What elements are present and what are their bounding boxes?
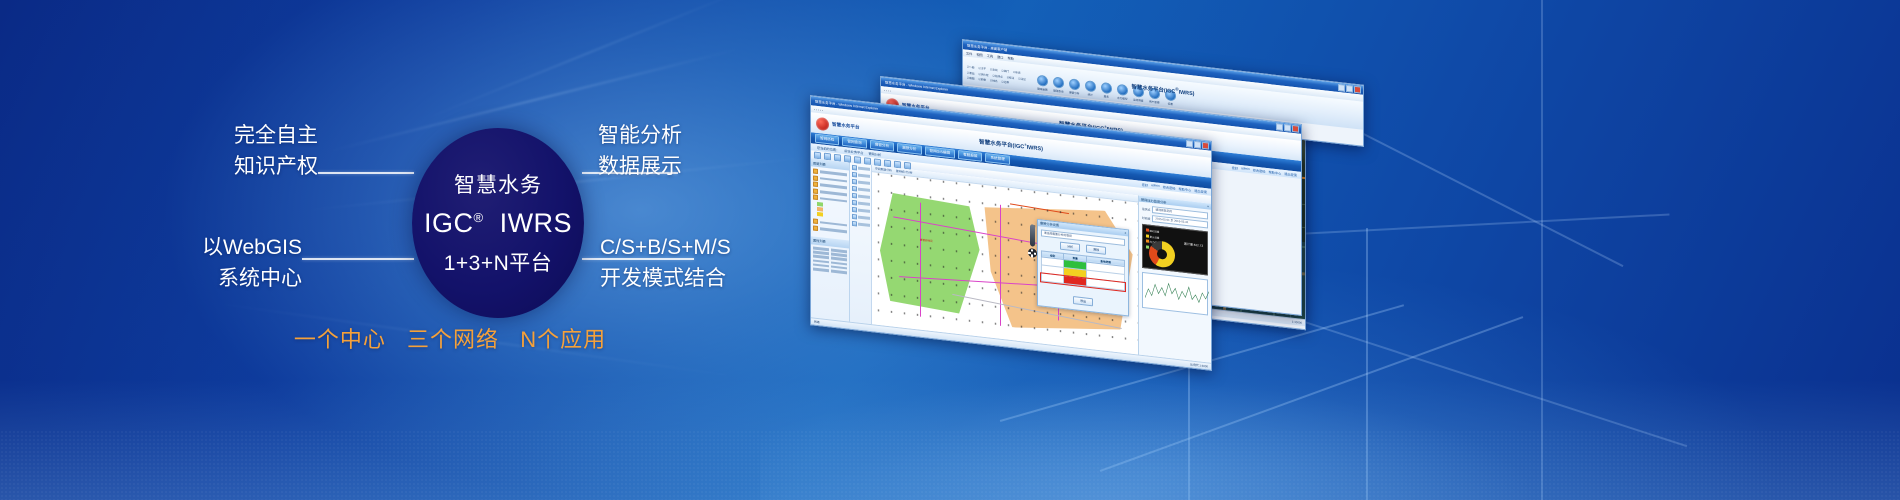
ribbon-button-5[interactable]: 水力模型 (1117, 84, 1128, 101)
mini-line-chart-svg (1145, 275, 1209, 312)
concept-diagram: 智慧水务 IGC® IWRS 1+3+N平台 完全自主 知识产权 智能分析 数据… (0, 0, 900, 500)
hydraulic-model-icon (1117, 84, 1128, 96)
maximize-icon[interactable] (1346, 85, 1353, 93)
menu-file[interactable]: 文件 (966, 51, 972, 57)
donut-chart (1149, 240, 1175, 269)
tagline-part-2: 三个网络 (407, 327, 499, 352)
mini-line-chart-box[interactable] (1142, 272, 1208, 316)
connector-top-left (318, 172, 414, 174)
ribbon-checkbox-group[interactable]: ☑一般☑主干 ☑支线☑阀门☑水表 ☑泵站☑消火栓 ☑监测点☑标注☑注记 ☑底图☑… (967, 65, 1026, 87)
layer-icon (813, 195, 818, 201)
burst-analysis-icon (1069, 78, 1080, 90)
logout-link[interactable]: 退出登录 (1284, 171, 1297, 177)
breadcrumb-1[interactable]: 综合业务平台 (844, 148, 863, 155)
hub-line-3: 1+3+N平台 (444, 247, 553, 277)
pan-icon (852, 172, 857, 178)
logout-link[interactable]: 退出登录 (1194, 188, 1207, 194)
locate-icon (852, 221, 857, 227)
monitoring-panel-body: 监测点 请选择监测点 时间段 2015-05-01 至 2015-05-31 瞬… (1139, 202, 1211, 319)
satellite-scale: 1:10000 (1292, 320, 1302, 325)
measure-icon (852, 193, 857, 199)
tool-locate[interactable] (852, 221, 870, 228)
hub-line-2: IGC® IWRS (424, 208, 572, 239)
map-tools-panel[interactable] (850, 163, 872, 325)
maximize-icon[interactable] (1194, 141, 1201, 149)
tool-zoom-out[interactable] (852, 186, 870, 193)
ribbon-button-1[interactable]: 管网查询 (1053, 76, 1064, 93)
legend-swatches (817, 202, 823, 217)
breadcrumb-prefix: 您当前的位置： (817, 145, 839, 153)
change-password-link[interactable]: 修改密码 (1163, 184, 1176, 190)
feature-top-left-line2: 知识产权 (150, 151, 318, 182)
close-icon[interactable] (1202, 142, 1209, 150)
help-center-link[interactable]: 帮助中心 (1269, 169, 1282, 175)
minimize-icon[interactable] (1338, 84, 1345, 92)
new-icon[interactable] (814, 151, 821, 159)
tool-clear[interactable] (852, 214, 870, 221)
close-icon[interactable] (1292, 125, 1299, 133)
central-hub: 智慧水务 IGC® IWRS 1+3+N平台 (412, 128, 584, 318)
tool-measure[interactable] (852, 193, 870, 200)
username: admin (1241, 166, 1250, 172)
layer-icon (813, 225, 818, 231)
clear-icon (852, 214, 857, 220)
analyze-button[interactable]: 分析 (1060, 242, 1080, 252)
report-icon (1101, 82, 1112, 94)
panel-close-icon[interactable]: × (1207, 204, 1209, 208)
burst-analysis-panel[interactable]: 爆管分析设置 × 请选择需要分析的管段 分析 清除 级别 (1037, 219, 1129, 317)
registered-mark-icon: ® (473, 210, 483, 225)
pan-dpad-icon[interactable] (1028, 248, 1037, 258)
feature-bottom-left-line2: 系统中心 (130, 263, 302, 294)
feature-top-left: 完全自主 知识产权 (150, 120, 318, 182)
pipe-query-icon (1053, 76, 1064, 88)
map-navigation-control[interactable] (1028, 224, 1037, 258)
help-center-link[interactable]: 帮助中心 (1179, 186, 1192, 192)
export-button[interactable]: 导出 (1073, 296, 1093, 306)
monitoring-panel[interactable]: 管网压力监测分析 × 监测点 请选择监测点 时间段 2015-05-01 至 2… (1138, 195, 1211, 362)
tagline: 一个中心 三个网络 N个应用 (0, 322, 900, 354)
area-icon (852, 200, 857, 206)
menu-view[interactable]: 视图 (976, 52, 982, 58)
browser-front-brand-name: 智慧水务平台 (832, 122, 860, 131)
greeting: 您好 (1232, 165, 1238, 171)
map-canvas[interactable]: 空间数据分析 管网统计分析 爆管影响区 (872, 165, 1138, 354)
query-icon (852, 207, 857, 213)
zoom-out-icon (852, 186, 857, 192)
feature-bottom-right-line2: 开发模式结合 (600, 263, 830, 294)
tool-zoom-in[interactable] (852, 179, 870, 186)
layer-icon (813, 219, 818, 225)
screenshot-stack: 影像底图 - 管网叠加 ▫▫▫ (790, 0, 1490, 500)
tagline-part-3: N个应用 (520, 327, 606, 352)
tool-select[interactable] (852, 165, 870, 172)
status-scale: 比例尺 1:5000 (1190, 362, 1208, 368)
open-icon[interactable] (824, 152, 831, 160)
donut-total-label: 累计量:512.73 (1184, 242, 1203, 248)
feature-top-right: 智能分析 数据展示 (598, 120, 798, 182)
level-swatch-red (1064, 276, 1087, 287)
minimize-icon[interactable] (1186, 140, 1193, 148)
donut-chart-box[interactable]: 瞬时流量 累计流量 压力值 水质指标 累计量:512.73 (1142, 224, 1208, 276)
feature-bottom-left: 以WebGIS 系统中心 (130, 232, 302, 294)
select-icon (852, 165, 857, 171)
browser-front-platform-title: 智慧水务平台(IGC®IWRS) (979, 137, 1043, 152)
ribbon-button-2[interactable]: 爆管分析 (1069, 78, 1080, 95)
layer-icon (813, 168, 818, 174)
layer-icon (813, 182, 818, 188)
minimize-icon[interactable] (1276, 123, 1283, 131)
panel-close-icon[interactable]: × (1124, 231, 1126, 235)
menu-window[interactable]: 窗口 (997, 54, 1003, 60)
menu-help[interactable]: 帮助 (1008, 55, 1014, 61)
greeting: 您好 (1142, 182, 1148, 188)
feature-bottom-left-line1: 以WebGIS (130, 232, 302, 263)
connector-bottom-left (302, 258, 414, 260)
username: admin (1151, 183, 1160, 189)
feature-bottom-right: C/S+B/S+M/S 开发模式结合 (600, 232, 830, 294)
ribbon-button-0[interactable]: 管网编辑 (1037, 75, 1048, 92)
feature-top-right-line1: 智能分析 (598, 120, 798, 151)
layer-icon (813, 175, 818, 181)
layer-icon (813, 188, 818, 194)
monitor-point-label: 监测点 (1142, 206, 1150, 211)
ribbon-button-3[interactable]: 统计 (1085, 80, 1096, 97)
tool-area[interactable] (852, 200, 870, 207)
feature-top-right-line2: 数据展示 (598, 151, 798, 182)
time-range-label: 时间段 (1142, 215, 1150, 220)
clear-button[interactable]: 清除 (1086, 245, 1106, 255)
burst-panel-body: 请选择需要分析的管段 分析 清除 级别 数量 影响范围 (1038, 226, 1128, 315)
menu-tools[interactable]: 工具 (987, 53, 993, 59)
tool-pan[interactable] (852, 172, 870, 179)
breadcrumb-2[interactable]: 管网分析 (868, 151, 881, 157)
ribbon-button-4[interactable]: 报表 (1101, 82, 1112, 99)
pipe-edit-icon (1037, 75, 1048, 87)
print-icon[interactable] (904, 161, 911, 169)
hub-igc-text: IGC (424, 208, 474, 238)
change-password-link[interactable]: 修改密码 (1253, 167, 1266, 173)
zoom-slider[interactable] (1030, 224, 1035, 247)
banner-root: 智慧水务 IGC® IWRS 1+3+N平台 完全自主 知识产权 智能分析 数据… (0, 0, 1900, 500)
maximize-icon[interactable] (1284, 124, 1291, 132)
company-logo-icon (816, 116, 829, 130)
hub-line-1: 智慧水务 (454, 169, 542, 199)
statistics-icon (1085, 80, 1096, 92)
zoom-in-icon (852, 179, 857, 185)
tool-query[interactable] (852, 207, 870, 214)
feature-bottom-right-line1: C/S+B/S+M/S (600, 232, 830, 263)
close-icon[interactable] (1354, 86, 1361, 94)
hub-iwrs-text: IWRS (500, 208, 573, 238)
feature-top-left-line1: 完全自主 (150, 120, 318, 151)
tagline-part-1: 一个中心 (294, 327, 386, 352)
